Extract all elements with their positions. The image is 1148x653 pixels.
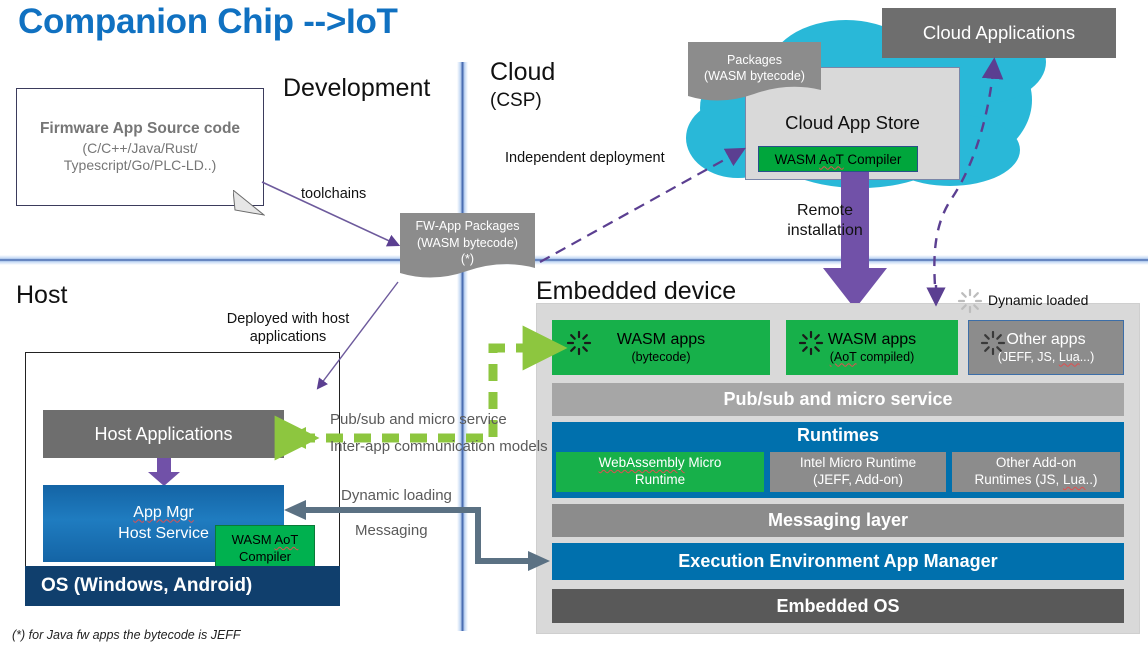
footnote: (*) for Java fw apps the bytecode is JEF…: [12, 628, 241, 642]
embedded-os-bar: Embedded OS: [552, 589, 1124, 623]
execution-environment-app-manager-bar: Execution Environment App Manager: [552, 543, 1124, 580]
remote-installation-arrow: [820, 172, 890, 310]
embedded-app-0-name: WASM apps: [617, 330, 705, 349]
host-aot-line2: Compiler: [239, 549, 291, 566]
horizontal-divider: [0, 255, 1148, 265]
fw-packages-line3: (*): [461, 251, 474, 268]
embedded-app-0-sub: (bytecode): [631, 350, 690, 365]
host-aot-line1: WASM AoT: [232, 532, 299, 549]
host-down-arrow: [146, 458, 182, 487]
label-deployed-with-host: Deployed with host applications: [218, 310, 358, 346]
embedded-app-1-name: WASM apps: [828, 330, 916, 349]
deployed-line2: applications: [218, 328, 358, 346]
section-heading-cloud: Cloud: [490, 58, 555, 87]
firmware-source-code-box[interactable]: Firmware App Source code (C/C++/Java/Rus…: [16, 88, 264, 206]
embedded-app-1-sub: (AoT compiled): [830, 350, 915, 365]
section-heading-development: Development: [283, 74, 430, 103]
spinner-icon: [798, 330, 824, 356]
fw-app-packages-shape: FW-App Packages (WASM bytecode) (*): [400, 213, 535, 280]
vertical-divider: [457, 62, 468, 631]
spinner-icon: [566, 330, 592, 356]
cloud-packages-line2: (WASM bytecode): [704, 68, 805, 84]
section-heading-host: Host: [16, 281, 67, 310]
fw-packages-line2: (WASM bytecode): [417, 235, 518, 252]
label-dynamic-loaded: Dynamic loaded: [988, 292, 1088, 308]
pubsub-micro-service-bar: Pub/sub and micro service: [552, 383, 1124, 416]
runtime-2-line1: Other Add-on: [996, 455, 1076, 472]
runtime-1-line1: Intel Micro Runtime: [800, 455, 916, 472]
cloud-packages-shape: Packages (WASM bytecode): [688, 42, 821, 102]
runtime-intel-micro[interactable]: Intel Micro Runtime (JEFF, Add-on): [770, 452, 946, 492]
runtimes-header: Runtimes: [552, 425, 1124, 446]
runtime-2-line2: Runtimes (JS, Lua..): [974, 472, 1097, 489]
spinner-icon: [957, 288, 983, 314]
cloud-app-store-title: Cloud App Store: [746, 112, 959, 134]
remote-installation-line1: Remote: [770, 201, 880, 221]
label-toolchains: toolchains: [301, 186, 366, 202]
messaging-layer-bar: Messaging layer: [552, 504, 1124, 537]
fw-packages-line1: FW-App Packages: [416, 218, 520, 235]
label-messaging: Messaging: [355, 522, 428, 539]
deployed-line1: Deployed with host: [218, 310, 358, 328]
remote-installation-line2: installation: [770, 221, 880, 241]
cloud-packages-line1: Packages: [727, 52, 782, 68]
label-dynamic-loading: Dynamic loading: [341, 487, 452, 504]
remote-installation-label: Remote installation: [770, 201, 880, 240]
section-subheading-csp: (CSP): [490, 90, 542, 112]
app-mgr-line1: App Mgr: [133, 503, 193, 524]
callout-tail: [233, 190, 265, 216]
cloud-wasm-aot-compiler-label: WASM AoT Compiler: [775, 152, 902, 167]
embedded-app-2-sub: (JEFF, JS, Lua...): [998, 350, 1095, 365]
label-inter-app-models: Inter-app communication models: [330, 438, 548, 455]
firmware-source-heading: Firmware App Source code: [40, 120, 240, 138]
runtime-0-line1: WebAssembly Micro: [599, 455, 722, 472]
label-independent-deployment: Independent deployment: [505, 150, 665, 166]
runtime-other-addon[interactable]: Other Add-on Runtimes (JS, Lua..): [952, 452, 1120, 492]
cloud-applications-box[interactable]: Cloud Applications: [882, 8, 1116, 58]
host-applications-box[interactable]: Host Applications: [43, 410, 284, 458]
slide-canvas: Companion Chip -->IoT Development Cloud …: [0, 0, 1148, 653]
runtime-webassembly-micro[interactable]: WebAssembly Micro Runtime: [556, 452, 764, 492]
spinner-icon: [980, 330, 1006, 356]
label-pubsub-micro-service: Pub/sub and micro service: [330, 411, 507, 428]
runtimes-block: Runtimes WebAssembly Micro Runtime Intel…: [552, 422, 1124, 498]
firmware-source-line1: (C/C++/Java/Rust/: [82, 140, 197, 158]
host-os-bar: OS (Windows, Android): [25, 566, 340, 606]
firmware-source-line2: Typescript/Go/PLC-LD..): [64, 157, 217, 175]
section-heading-embedded-device: Embedded device: [536, 277, 736, 306]
runtime-0-line2: Runtime: [635, 472, 685, 489]
page-title: Companion Chip -->IoT: [18, 2, 658, 54]
cloud-wasm-aot-compiler-box[interactable]: WASM AoT Compiler: [758, 146, 918, 172]
runtime-1-line2: (JEFF, Add-on): [813, 472, 903, 489]
embedded-app-2-name: Other apps: [1006, 330, 1085, 349]
app-mgr-line2: Host Service: [118, 524, 209, 545]
